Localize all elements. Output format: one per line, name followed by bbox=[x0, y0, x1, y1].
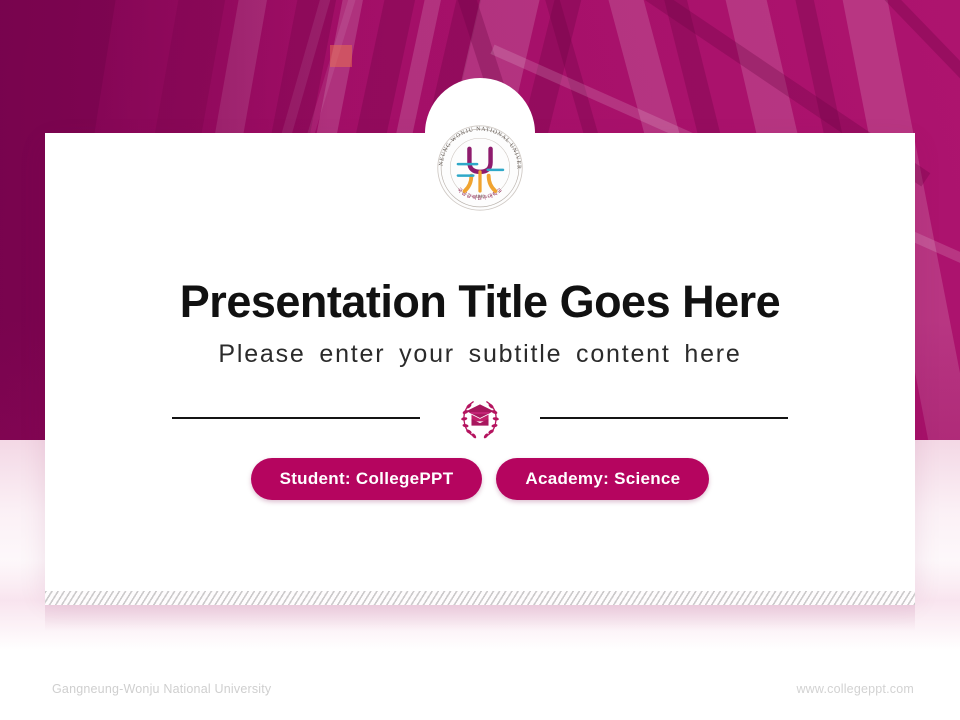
presentation-cover-slide: GANGNEUNG WONJU NATIONAL UNIVERSITY 국립강랙… bbox=[0, 0, 960, 720]
university-seal-logo: GANGNEUNG WONJU NATIONAL UNIVERSITY 국립강랙… bbox=[432, 120, 528, 216]
badge-academy[interactable]: Academy: Science bbox=[496, 458, 709, 500]
hatched-band-shadow bbox=[45, 605, 915, 631]
divider-rule-left bbox=[172, 417, 420, 419]
footer: Gangneung-Wonju National University www.… bbox=[0, 682, 960, 702]
svg-text:1946: 1946 bbox=[476, 193, 486, 198]
divider bbox=[0, 395, 960, 441]
footer-university-name: Gangneung-Wonju National University bbox=[52, 682, 271, 696]
footer-website-url[interactable]: www.collegeppt.com bbox=[796, 682, 914, 696]
badge-row: Student: CollegePPT Academy: Science bbox=[0, 458, 960, 500]
divider-rule-right bbox=[540, 417, 788, 419]
graduation-cap-laurel-icon bbox=[454, 395, 506, 441]
badge-student[interactable]: Student: CollegePPT bbox=[251, 458, 483, 500]
hatched-band bbox=[45, 591, 915, 605]
page-title: Presentation Title Goes Here bbox=[0, 278, 960, 325]
page-subtitle: Please enter your subtitle content here bbox=[0, 340, 960, 369]
